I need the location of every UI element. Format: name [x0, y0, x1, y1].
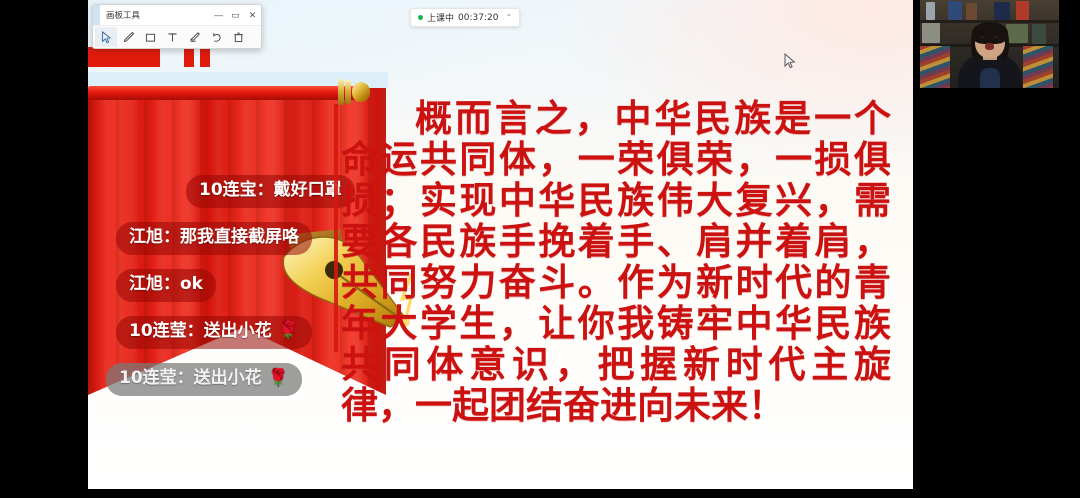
status-dot-icon — [418, 15, 423, 20]
decorative-red-tick-2 — [200, 47, 210, 67]
chevron-up-icon[interactable]: ⌃ — [505, 13, 512, 22]
minimize-icon[interactable]: — — [210, 5, 227, 25]
chat-message: 江旭：那我直接截屏咯 — [116, 222, 312, 255]
chat-message: 江旭：ok — [116, 269, 216, 302]
class-status-pill[interactable]: 上课中 00:37:20 ⌃ — [410, 8, 520, 27]
background-object — [966, 3, 977, 20]
chat-message: 10连宝：戴好口罩 — [186, 175, 355, 208]
paragraph-accent-rule — [334, 104, 338, 352]
trash-icon[interactable] — [227, 27, 249, 47]
maximize-icon[interactable]: ▭ — [227, 5, 244, 25]
toolbar-titlebar[interactable]: 画板工具 — ▭ ✕ — [93, 5, 261, 26]
person-silhouette — [958, 26, 1022, 88]
status-timer: 00:37:20 — [458, 13, 498, 23]
background-object — [922, 23, 940, 43]
background-object — [926, 2, 935, 20]
toolbar-title: 画板工具 — [100, 9, 210, 21]
decorative-red-bar — [88, 47, 160, 67]
background-object — [1032, 24, 1046, 44]
close-icon[interactable]: ✕ — [244, 5, 261, 25]
background-object — [948, 1, 962, 20]
text-icon[interactable] — [161, 27, 183, 47]
rectangle-icon[interactable] — [139, 27, 161, 47]
chat-message: 10连莹：送出小花 🌹 — [106, 363, 302, 396]
pencil-icon[interactable] — [117, 27, 139, 47]
decorative-red-tick-1 — [184, 47, 194, 67]
drawing-toolbar-window[interactable]: 画板工具 — ▭ ✕ — [92, 4, 262, 49]
cursor-icon[interactable] — [95, 27, 117, 47]
striped-fabric — [920, 46, 950, 88]
screen-root: 10连宝：戴好口罩 江旭：那我直接截屏咯 江旭：ok 10连莹：送出小花 🌹 1… — [0, 0, 1080, 498]
toolbar-drag-grip[interactable] — [93, 5, 100, 25]
undo-icon[interactable] — [205, 27, 227, 47]
toolbar-tool-strip — [93, 26, 261, 48]
participant-video-tile[interactable] — [920, 0, 1059, 88]
background-object — [1016, 1, 1029, 20]
shared-slide-area: 10连宝：戴好口罩 江旭：那我直接截屏咯 江旭：ok 10连莹：送出小花 🌹 1… — [88, 0, 913, 489]
scroll-rod — [88, 86, 356, 100]
status-label: 上课中 — [427, 11, 454, 24]
slide-paragraph: 概而言之，中华民族是一个命运共同体，一荣俱荣，一损俱损；实现中华民族伟大复兴，需… — [341, 98, 891, 427]
eraser-icon[interactable] — [183, 27, 205, 47]
striped-fabric — [1023, 46, 1053, 88]
chat-message: 10连莹：送出小花 🌹 — [116, 316, 312, 349]
background-object — [994, 2, 1010, 20]
